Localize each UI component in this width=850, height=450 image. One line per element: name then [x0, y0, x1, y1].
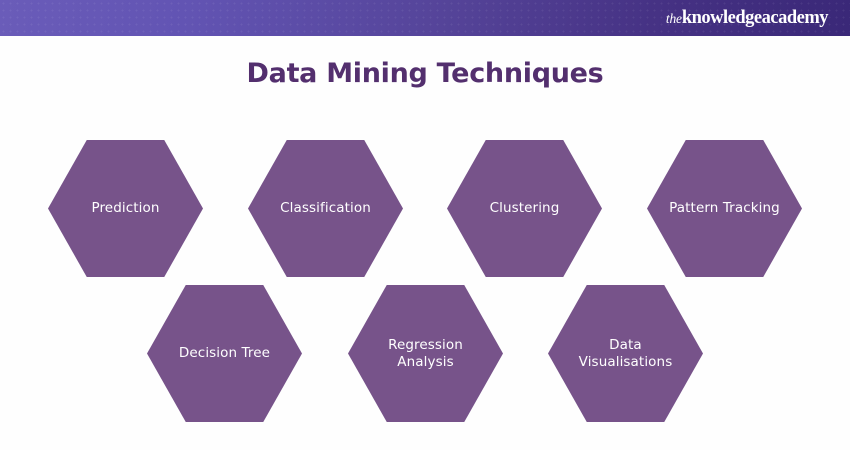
hex-label-regression-analysis: Regression Analysis — [388, 337, 463, 371]
hexagon-diagram: Prediction Classification Clustering Pat… — [0, 0, 850, 450]
hex-label-classification: Classification — [280, 200, 371, 217]
hex-node-regression-analysis: Regression Analysis — [348, 285, 503, 422]
hex-node-classification: Classification — [248, 140, 403, 277]
hex-node-data-visualisations: Data Visualisations — [548, 285, 703, 422]
hex-label-prediction: Prediction — [91, 200, 159, 217]
hex-node-pattern-tracking: Pattern Tracking — [647, 140, 802, 277]
hex-node-decision-tree: Decision Tree — [147, 285, 302, 422]
hex-label-pattern-tracking: Pattern Tracking — [669, 200, 780, 217]
hex-node-clustering: Clustering — [447, 140, 602, 277]
hex-label-decision-tree: Decision Tree — [179, 345, 270, 362]
hex-node-prediction: Prediction — [48, 140, 203, 277]
hex-label-data-visualisations: Data Visualisations — [579, 337, 673, 371]
hex-label-clustering: Clustering — [490, 200, 560, 217]
